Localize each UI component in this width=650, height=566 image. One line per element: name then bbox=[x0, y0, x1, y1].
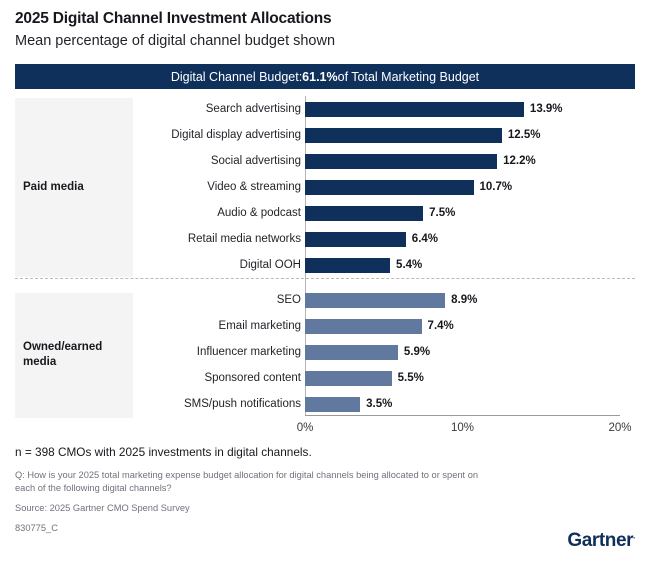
bar-row: Digital display advertising12.5% bbox=[0, 128, 650, 143]
sample-size-note: n = 398 CMOs with 2025 investments in di… bbox=[15, 444, 635, 460]
bar-value-label: 7.4% bbox=[428, 319, 454, 334]
bar-value-label: 12.2% bbox=[503, 154, 536, 169]
bar bbox=[305, 345, 398, 360]
bar-value-label: 13.9% bbox=[530, 102, 563, 117]
digital-channel-budget-banner: Digital Channel Budget: 61.1% of Total M… bbox=[15, 64, 635, 89]
source-note: Source: 2025 Gartner CMO Spend Survey bbox=[15, 502, 495, 515]
bar bbox=[305, 397, 360, 412]
x-axis-line bbox=[305, 415, 620, 416]
bar bbox=[305, 180, 474, 195]
bar-category-label: SMS/push notifications bbox=[184, 397, 301, 412]
gartner-logo: Gartner. bbox=[567, 530, 635, 552]
bar bbox=[305, 371, 392, 386]
bar bbox=[305, 128, 502, 143]
bar-chart-plot-area: Paid media Owned/earned media Search adv… bbox=[0, 96, 650, 426]
gartner-logo-tm: . bbox=[633, 532, 635, 541]
bar-value-label: 5.5% bbox=[398, 371, 424, 386]
bar-row: Email marketing7.4% bbox=[0, 319, 650, 334]
x-axis-tick-label: 0% bbox=[297, 422, 314, 434]
bar-value-label: 8.9% bbox=[451, 293, 477, 308]
x-axis-tick-label: 20% bbox=[608, 422, 631, 434]
bar-row: Social advertising12.2% bbox=[0, 154, 650, 169]
banner-value: 61.1% bbox=[302, 70, 337, 84]
bar-value-label: 5.9% bbox=[404, 345, 430, 360]
bar-category-label: Social advertising bbox=[211, 154, 301, 169]
bar-category-label: Retail media networks bbox=[188, 232, 301, 247]
bar bbox=[305, 293, 445, 308]
banner-suffix: of Total Marketing Budget bbox=[338, 70, 480, 84]
bar-category-label: Digital OOH bbox=[240, 258, 301, 273]
bar bbox=[305, 154, 497, 169]
bar-value-label: 7.5% bbox=[429, 206, 455, 221]
x-axis-tick-label: 10% bbox=[451, 422, 474, 434]
bar bbox=[305, 102, 524, 117]
bar-value-label: 3.5% bbox=[366, 397, 392, 412]
bar-row: Sponsored content5.5% bbox=[0, 371, 650, 386]
bar-row: SMS/push notifications3.5% bbox=[0, 397, 650, 412]
bar-category-label: Influencer marketing bbox=[197, 345, 301, 360]
bar-category-label: Email marketing bbox=[219, 319, 301, 334]
bar bbox=[305, 319, 422, 334]
bar-value-label: 5.4% bbox=[396, 258, 422, 273]
document-id-note: 830775_C bbox=[15, 522, 635, 535]
bar-row: Video & streaming10.7% bbox=[0, 180, 650, 195]
bar bbox=[305, 232, 406, 247]
bar-value-label: 12.5% bbox=[508, 128, 541, 143]
survey-question-note: Q: How is your 2025 total marketing expe… bbox=[15, 469, 495, 495]
bar-row: Digital OOH5.4% bbox=[0, 258, 650, 273]
page-title: 2025 Digital Channel Investment Allocati… bbox=[15, 9, 635, 29]
bar bbox=[305, 258, 390, 273]
bar-row: Retail media networks6.4% bbox=[0, 232, 650, 247]
gartner-logo-text: Gartner bbox=[567, 530, 633, 551]
group-divider bbox=[15, 278, 635, 279]
footnotes: n = 398 CMOs with 2025 investments in di… bbox=[15, 444, 635, 535]
title-block: 2025 Digital Channel Investment Allocati… bbox=[15, 9, 635, 51]
bar-value-label: 10.7% bbox=[480, 180, 513, 195]
bar bbox=[305, 206, 423, 221]
page-subtitle: Mean percentage of digital channel budge… bbox=[15, 31, 635, 51]
bar-category-label: Audio & podcast bbox=[217, 206, 301, 221]
banner-prefix: Digital Channel Budget: bbox=[171, 70, 302, 84]
bar-category-label: SEO bbox=[277, 293, 301, 308]
bar-row: Search advertising13.9% bbox=[0, 102, 650, 117]
bar-row: SEO8.9% bbox=[0, 293, 650, 308]
y-axis-line bbox=[305, 96, 306, 415]
bar-category-label: Digital display advertising bbox=[171, 128, 301, 143]
bar-category-label: Search advertising bbox=[206, 102, 301, 117]
bar-row: Influencer marketing5.9% bbox=[0, 345, 650, 360]
bar-category-label: Video & streaming bbox=[207, 180, 301, 195]
bar-category-label: Sponsored content bbox=[204, 371, 301, 386]
bar-value-label: 6.4% bbox=[412, 232, 438, 247]
bar-row: Audio & podcast7.5% bbox=[0, 206, 650, 221]
